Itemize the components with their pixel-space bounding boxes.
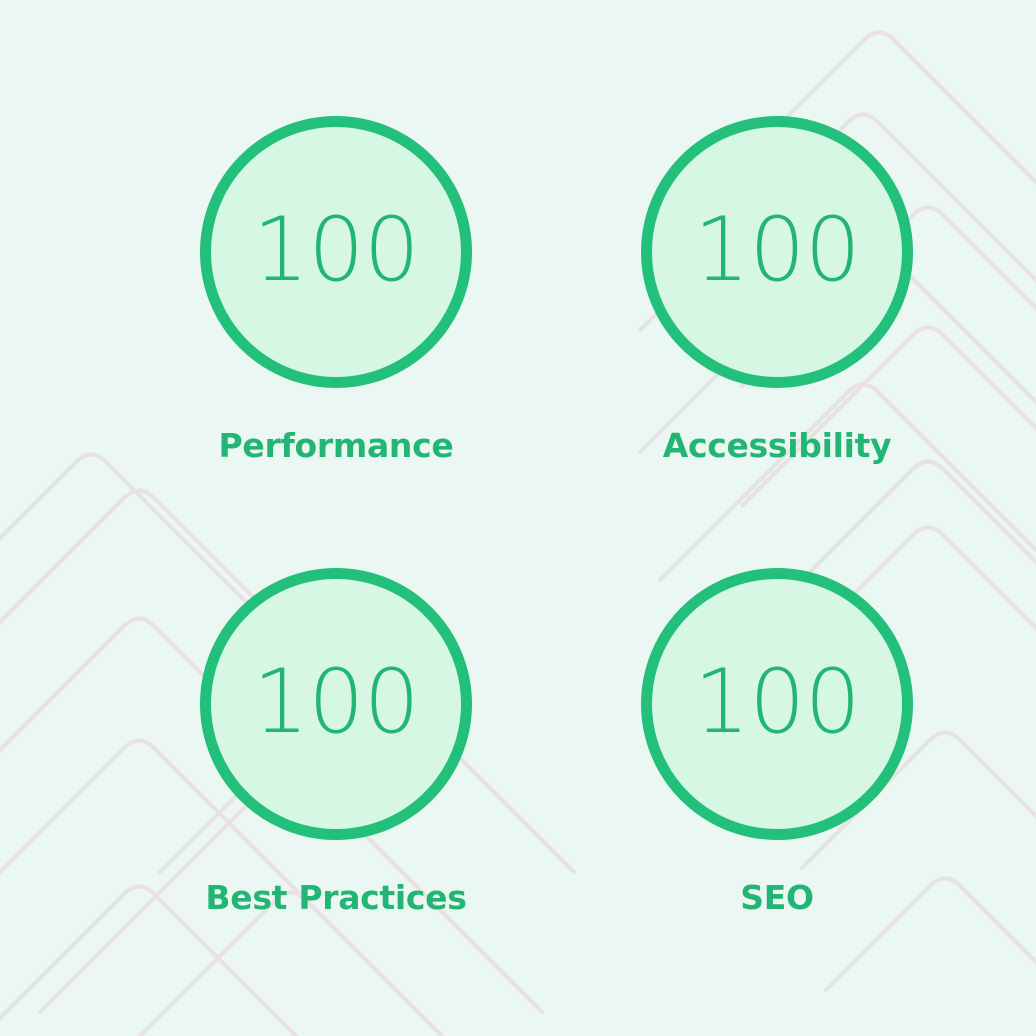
- gauge-seo[interactable]: 100 SEO: [518, 518, 1036, 1036]
- gauge-label-seo: SEO: [740, 880, 813, 916]
- gauge-score-performance: 100: [253, 206, 419, 294]
- score-dashboard: 100 Performance 100 Accessibility 100 Be…: [0, 0, 1036, 1036]
- gauge-grid: 100 Performance 100 Accessibility 100 Be…: [0, 0, 1036, 1036]
- gauge-ring-seo: 100: [641, 568, 913, 840]
- gauge-ring-best-practices: 100: [200, 568, 472, 840]
- gauge-label-best-practices: Best Practices: [205, 880, 466, 916]
- gauge-accessibility[interactable]: 100 Accessibility: [518, 0, 1036, 518]
- gauge-ring-accessibility: 100: [641, 116, 913, 388]
- gauge-score-best-practices: 100: [253, 658, 419, 746]
- gauge-best-practices[interactable]: 100 Best Practices: [0, 518, 518, 1036]
- gauge-performance[interactable]: 100 Performance: [0, 0, 518, 518]
- gauge-score-accessibility: 100: [694, 206, 860, 294]
- gauge-ring-performance: 100: [200, 116, 472, 388]
- gauge-label-accessibility: Accessibility: [663, 428, 892, 464]
- gauge-score-seo: 100: [694, 658, 860, 746]
- gauge-label-performance: Performance: [219, 428, 454, 464]
